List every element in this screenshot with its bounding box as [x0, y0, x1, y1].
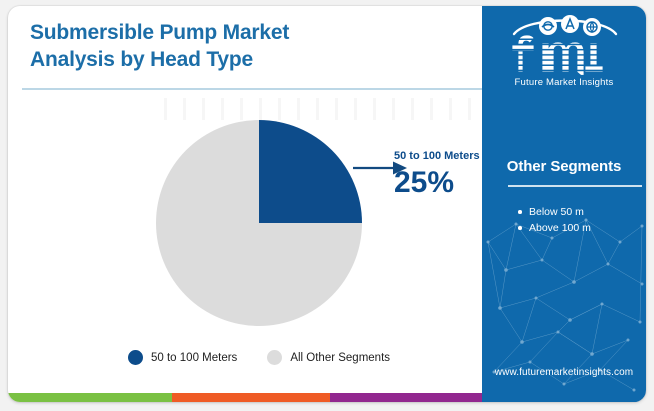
watermark-pattern [158, 98, 478, 120]
legend-swatch-icon [128, 350, 143, 365]
bottom-color-bar [8, 393, 646, 402]
fmi-logo-icon [498, 14, 630, 76]
list-item: Above 100 m [516, 220, 642, 236]
brand-logo: Future Market Insights [482, 14, 646, 88]
title-divider [22, 88, 482, 90]
other-segments-title: Other Segments [482, 158, 646, 175]
bar-segment-orange [172, 393, 330, 402]
bar-segment-purple [330, 393, 482, 402]
legend-swatch-icon [267, 350, 282, 365]
infographic-card: Submersible Pump Market Analysis by Head… [8, 6, 646, 402]
chart-pane: Submersible Pump Market Analysis by Head… [8, 6, 482, 402]
other-segments-divider [508, 185, 642, 187]
legend-item-label: 50 to 100 Meters [151, 352, 237, 364]
legend-item: 50 to 100 Meters [128, 350, 237, 365]
pie-chart [156, 120, 362, 326]
bar-segment-green [8, 393, 172, 402]
legend-item-label: All Other Segments [290, 352, 390, 364]
bar-segment-blue [482, 393, 646, 402]
pie-slices [156, 120, 362, 326]
other-segments-list: Below 50 m Above 100 m [516, 204, 642, 237]
website-url[interactable]: www.futuremarketinsights.com [482, 367, 646, 378]
chart-legend: 50 to 100 Meters All Other Segments [128, 350, 390, 365]
brand-panel: Future Market Insights Other Segments Be… [482, 6, 646, 402]
list-item: Below 50 m [516, 204, 642, 220]
infographic-canvas: Submersible Pump Market Analysis by Head… [0, 0, 654, 411]
page-title: Submersible Pump Market Analysis by Head… [30, 20, 450, 74]
brand-tagline: Future Market Insights [482, 77, 646, 88]
legend-item: All Other Segments [267, 350, 390, 365]
